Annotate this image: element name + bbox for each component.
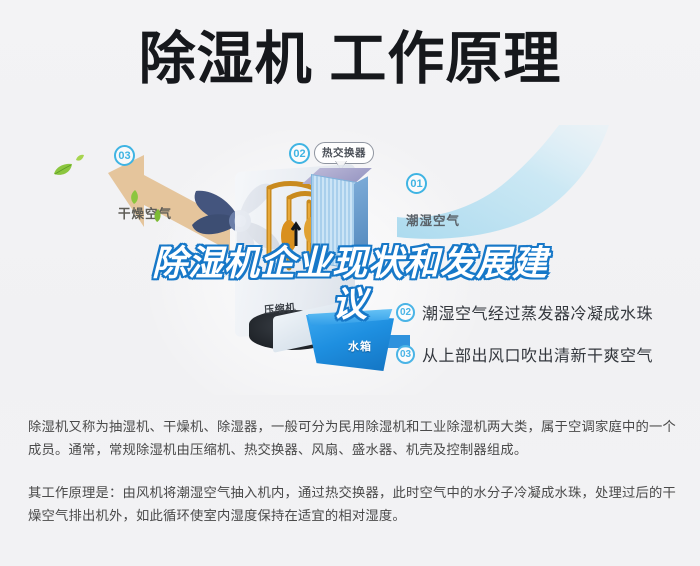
infographic-page: 除湿机 工作原理 潮湿空气 01 [0,0,700,566]
water-tank-label: 水箱 [348,338,372,354]
legend-badge-03: 03 [396,345,415,364]
diagram-badge-03: 03 [114,145,135,166]
page-title: 除湿机 工作原理 [0,28,700,90]
leaf-icon [128,189,141,210]
article-body: 除湿机又称为抽湿机、干燥机、除湿器，一般可分为民用除湿机和工业除湿机两大类，属于… [28,415,676,547]
evaporator-coil-block [311,168,371,266]
diagram-badge-01: 01 [406,173,427,194]
leaf-icon [75,149,85,167]
humid-air-arrow [395,125,625,255]
leaf-icon [52,163,74,183]
evaporator-side [354,176,368,271]
paragraph-definition: 除湿机又称为抽湿机、干燥机、除湿器，一般可分为民用除湿机和工业除湿机两大类，属于… [28,415,676,461]
leaf-icon [152,209,163,228]
page-title-text: 除湿机 工作原理 [139,28,562,90]
compressor-label: 压缩机 [263,299,296,317]
humid-air-label: 潮湿空气 [406,210,460,229]
legend-text-03: 从上部出风口吹出清新干爽空气 [422,342,653,366]
dry-air-label: 干燥空气 [118,203,172,222]
water-tank: 水箱 [302,305,398,375]
legend-badge-02: 02 [396,303,415,322]
paragraph-principle: 其工作原理是：由风机将潮湿空气抽入机内，通过热交换器，此时空气中的水分子冷凝成水… [28,481,676,527]
legend-text-02: 潮湿空气经过蒸发器冷凝成水珠 [422,300,653,324]
legend-item: 02 潮湿空气经过蒸发器冷凝成水珠 [396,300,653,324]
evaporator-fins [311,174,357,270]
legend-item: 03 从上部出风口吹出清新干爽空气 [396,342,653,366]
legend-list: 02 潮湿空气经过蒸发器冷凝成水珠 03 从上部出风口吹出清新干爽空气 [396,300,653,384]
